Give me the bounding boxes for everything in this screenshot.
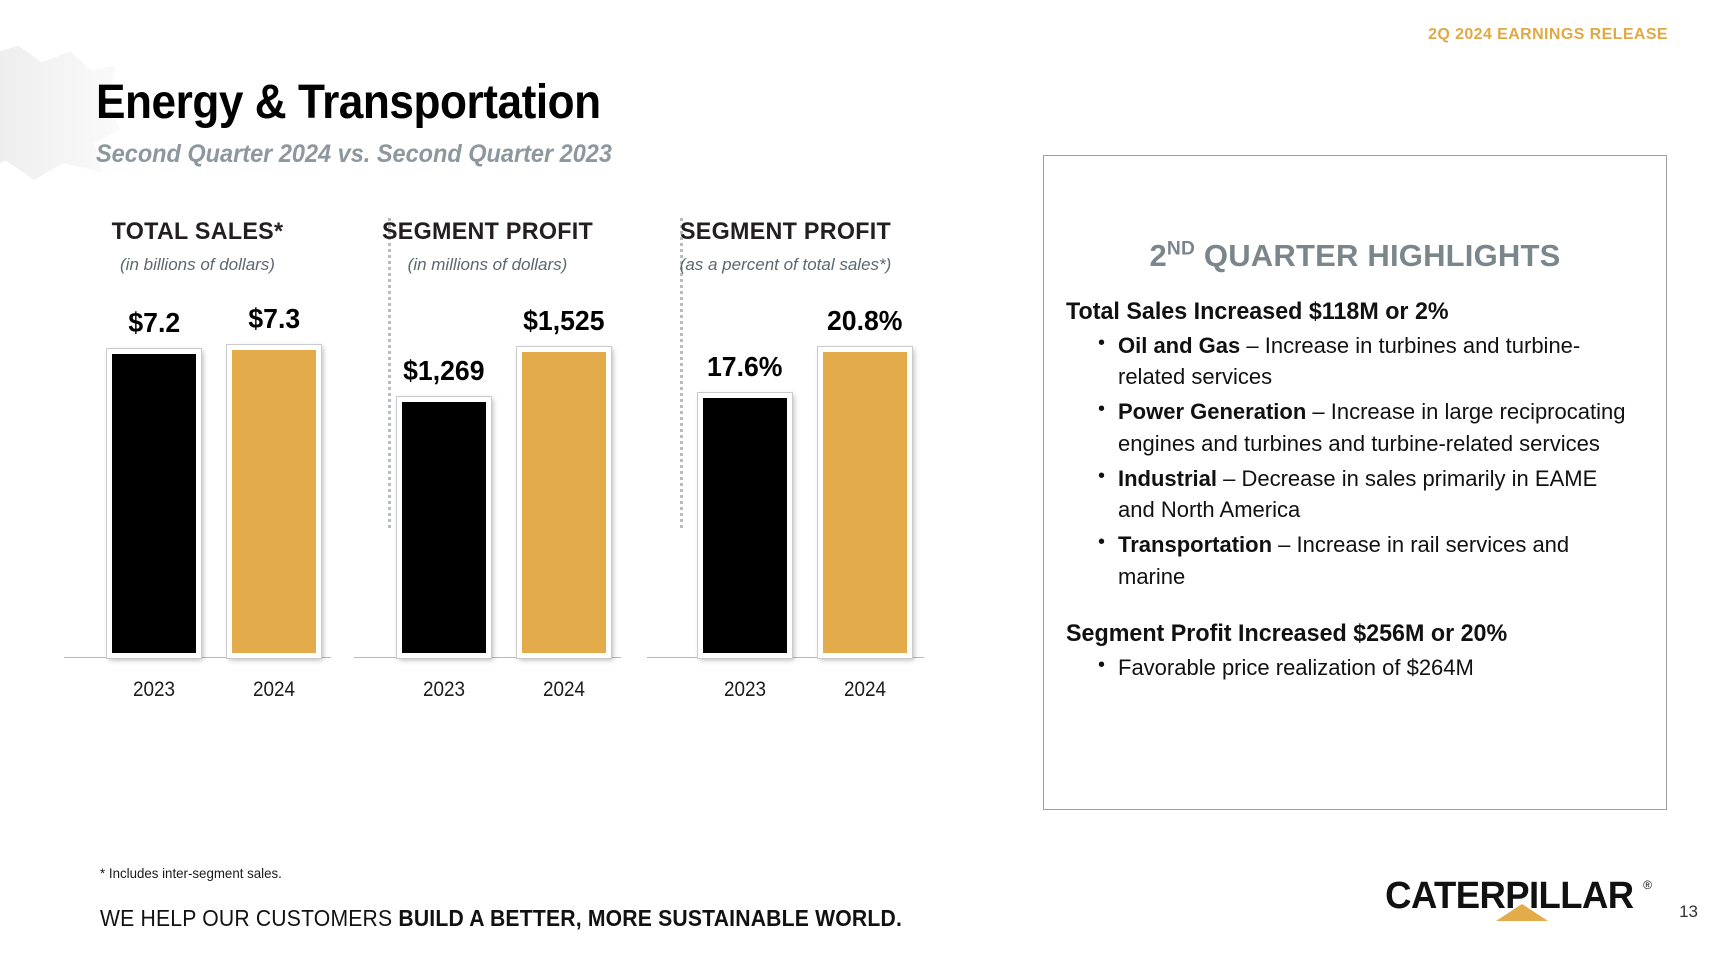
highlights-list-item: Oil and Gas – Increase in turbines and t… [1096, 330, 1636, 392]
highlights-heading-1: Segment Profit Increased $256M or 20% [1066, 620, 1648, 648]
caterpillar-wedge-icon [1496, 904, 1548, 921]
bar-value-label: $1,269 [403, 355, 484, 387]
caterpillar-logo: CATERPILLAR ® [1380, 874, 1652, 918]
highlights-title-ordinal: ND [1167, 239, 1195, 260]
chart-panel-0: TOTAL SALES*(in billions of dollars)$7.2… [60, 218, 335, 778]
chart-footnote: * Includes inter-segment sales. [100, 865, 282, 881]
chart-subtitle-0: (in billions of dollars) [60, 255, 335, 275]
highlights-item-label: Power Generation [1118, 399, 1306, 424]
highlights-item-label: Transportation [1118, 532, 1272, 557]
highlights-body: Total Sales Increased $118M or 2%Oil and… [1044, 298, 1666, 683]
highlights-item-text: Favorable price realization of $264M [1118, 655, 1474, 680]
earnings-release-eyebrow: 2Q 2024 EARNINGS RELEASE [1428, 26, 1668, 44]
highlights-list-item: Industrial – Decrease in sales primarily… [1096, 463, 1636, 525]
x-tick-label: 2023 [390, 678, 498, 702]
bar-group-2023: $1,269 [400, 355, 488, 658]
highlights-list-item: Transportation – Increase in rail servic… [1096, 529, 1636, 591]
chart-panel-2: SEGMENT PROFIT(as a percent of total sal… [643, 218, 928, 778]
bar-value-label: $7.3 [248, 303, 300, 335]
bar-value-label: $1,525 [523, 305, 604, 337]
chart-title-1: SEGMENT PROFIT [354, 218, 621, 246]
highlights-item-label: Industrial [1118, 466, 1217, 491]
bar-value-label: 17.6% [707, 351, 782, 383]
highlights-title-prefix: 2 [1149, 238, 1166, 273]
chart-plot-2: 17.6%202320.8%2024 [643, 318, 928, 718]
registered-trademark-icon: ® [1643, 878, 1652, 892]
highlights-list-item: Favorable price realization of $264M [1096, 652, 1636, 683]
x-tick-label: 2024 [811, 678, 919, 702]
bar-2024 [818, 347, 912, 658]
x-tick-label: 2024 [220, 678, 328, 702]
chart-panel-1: SEGMENT PROFIT(in millions of dollars)$1… [350, 218, 625, 778]
x-tick-label: 2024 [510, 678, 618, 702]
chart-subtitle-1: (in millions of dollars) [350, 255, 625, 275]
tagline-strong: BUILD A BETTER, MORE SUSTAINABLE WORLD. [398, 905, 902, 931]
highlights-list-item: Power Generation – Increase in large rec… [1096, 396, 1636, 458]
highlights-list-1: Favorable price realization of $264M [1044, 652, 1666, 683]
bar-2023 [397, 397, 491, 658]
x-tick-label: 2023 [100, 678, 208, 702]
bar-group-2024: $1,525 [520, 305, 608, 658]
bar-group-2024: 20.8% [821, 305, 909, 658]
bar-2023 [107, 349, 201, 658]
page-title: Energy & Transportation [96, 78, 601, 128]
highlights-title: 2ND QUARTER HIGHLIGHTS [1044, 238, 1666, 274]
chart-title-0: TOTAL SALES* [64, 218, 331, 246]
charts-region: TOTAL SALES*(in billions of dollars)$7.2… [60, 218, 950, 778]
highlights-list-0: Oil and Gas – Increase in turbines and t… [1044, 330, 1666, 592]
chart-subtitle-2: (as a percent of total sales*) [643, 255, 928, 275]
highlights-item-label: Oil and Gas [1118, 333, 1240, 358]
bar-group-2024: $7.3 [230, 303, 318, 658]
tagline-plain: WE HELP OUR CUSTOMERS [100, 905, 398, 931]
chart-plot-1: $1,2692023$1,5252024 [350, 318, 625, 718]
highlights-title-rest: QUARTER HIGHLIGHTS [1195, 238, 1560, 273]
page-subtitle: Second Quarter 2024 vs. Second Quarter 2… [96, 140, 612, 169]
bar-2023 [698, 393, 792, 658]
bar-2024 [517, 347, 611, 658]
bar-group-2023: 17.6% [701, 351, 789, 658]
company-tagline: WE HELP OUR CUSTOMERS BUILD A BETTER, MO… [100, 905, 902, 932]
highlights-heading-0: Total Sales Increased $118M or 2% [1066, 298, 1648, 326]
x-tick-label: 2023 [691, 678, 799, 702]
bar-group-2023: $7.2 [110, 307, 198, 658]
chart-plot-0: $7.22023$7.32024 [60, 318, 335, 718]
bar-value-label: $7.2 [128, 307, 180, 339]
bar-2024 [227, 345, 321, 658]
bar-value-label: 20.8% [827, 305, 902, 337]
page-number: 13 [1679, 902, 1698, 922]
chart-title-2: SEGMENT PROFIT [647, 218, 923, 246]
quarter-highlights-panel: 2ND QUARTER HIGHLIGHTS Total Sales Incre… [1043, 155, 1667, 810]
